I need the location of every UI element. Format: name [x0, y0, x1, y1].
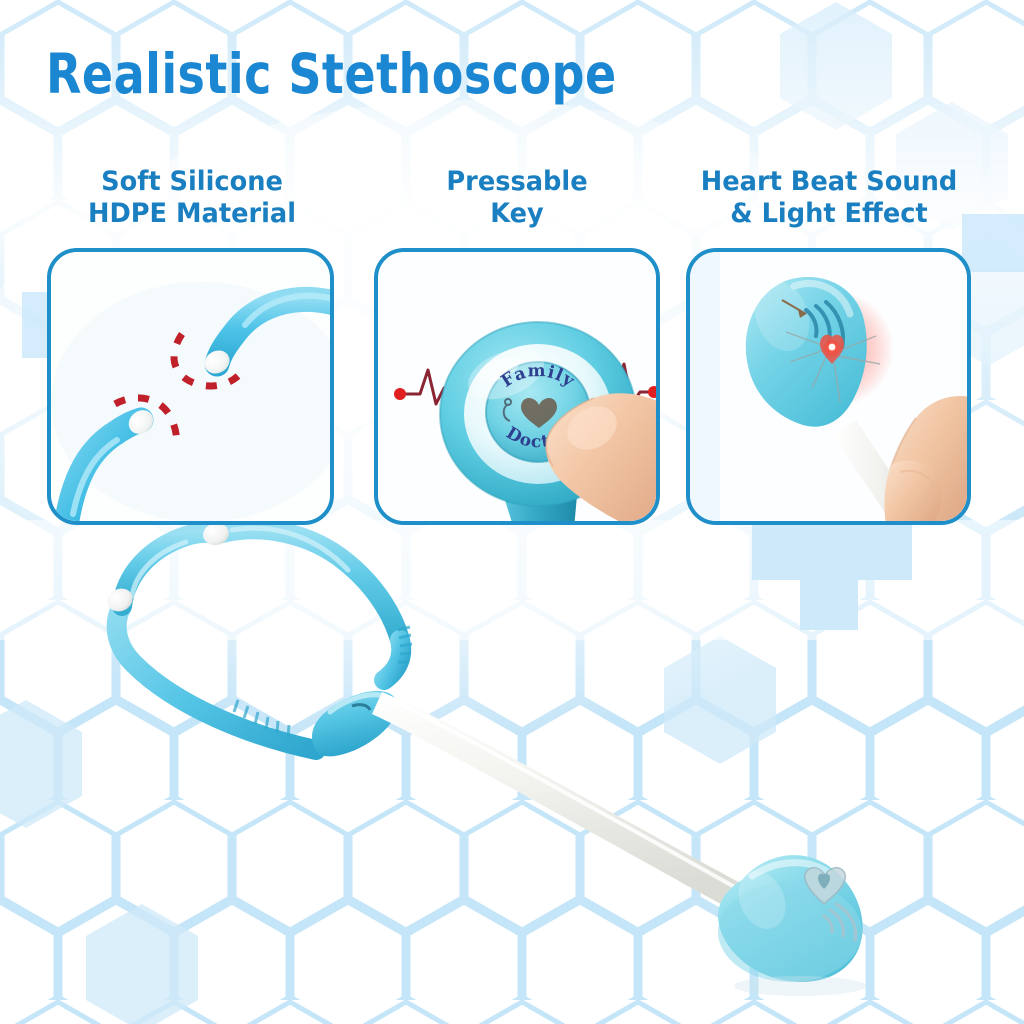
chestpiece-bell: [718, 855, 863, 982]
deco-block-right: [962, 214, 1024, 272]
caption-line-1: Heart Beat Sound: [701, 166, 957, 197]
panel-heart-beat-sound-light[interactable]: [686, 248, 971, 525]
infographic-canvas: Realistic Stethoscope Soft Silicone HDPE…: [0, 0, 1024, 1024]
caption-line-1: Pressable: [446, 166, 587, 197]
caption-line-1: Soft Silicone: [101, 166, 283, 197]
panel-heart-beat-sound-light-content: [690, 252, 967, 521]
panel-pressable-key-content: Family Doctor: [378, 252, 656, 521]
connector-tube: [372, 692, 746, 910]
caption-pressable-key: Pressable Key: [381, 166, 653, 230]
panel-soft-silicone[interactable]: [47, 248, 334, 525]
panel-pressable-key[interactable]: Family Doctor: [374, 248, 660, 525]
caption-line-2: Key: [381, 198, 653, 230]
page-title: Realistic Stethoscope: [46, 44, 617, 104]
caption-line-2: HDPE Material: [55, 198, 329, 230]
panel-soft-silicone-content: [51, 252, 330, 521]
caption-line-2: & Light Effect: [691, 198, 967, 230]
caption-soft-silicone: Soft Silicone HDPE Material: [55, 166, 329, 230]
product-image: [0, 500, 1024, 1024]
caption-heart-beat-sound-light: Heart Beat Sound & Light Effect: [691, 166, 967, 230]
